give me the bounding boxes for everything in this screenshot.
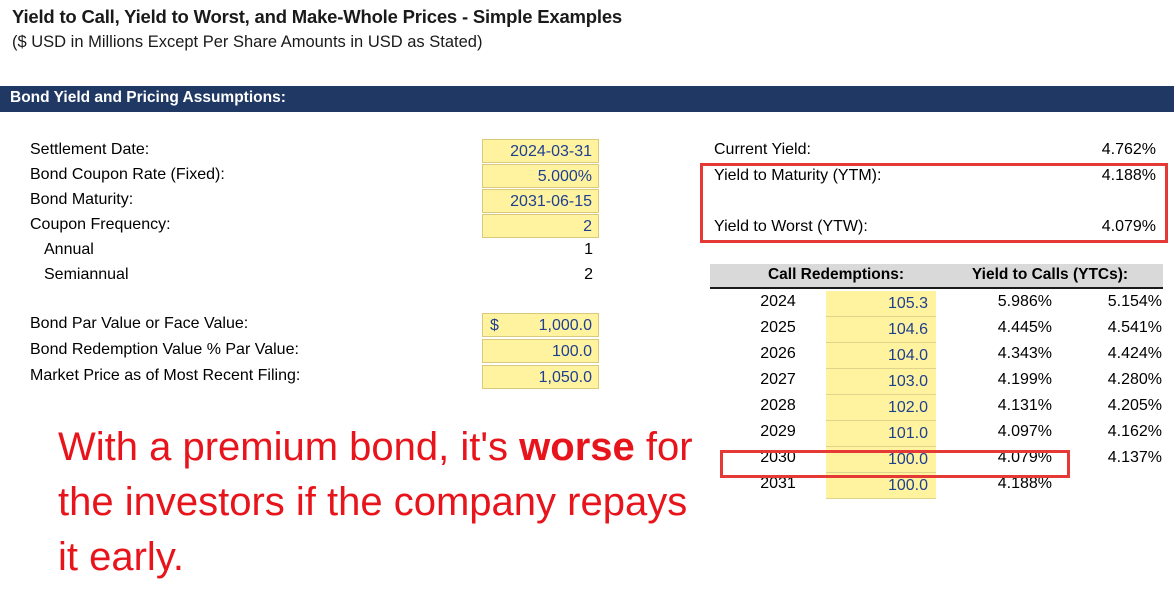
ytc-value-secondary: 4.205% (1058, 397, 1162, 415)
assumption-label: Bond Par Value or Face Value: (30, 315, 248, 333)
assumption-input-cell[interactable]: 5.000% (482, 164, 599, 188)
ytc-value-primary: 5.986% (942, 293, 1052, 311)
yield-value: 4.188% (1040, 167, 1162, 185)
currency-symbol: $ (490, 314, 499, 337)
assumption-label: Semiannual (44, 266, 129, 284)
assumption-input-cell[interactable]: 100.0 (482, 339, 599, 363)
call-year: 2025 (732, 319, 824, 337)
call-price-input-cell[interactable]: 100.0 (826, 447, 936, 473)
ytc-value-primary: 4.199% (942, 371, 1052, 389)
ytc-value-primary: 4.079% (942, 449, 1052, 467)
yield-value: 4.079% (1040, 218, 1162, 236)
yield-label: Yield to Worst (YTW): (714, 218, 868, 236)
table-row: 2030100.04.079%4.137% (710, 447, 1163, 473)
ytc-value-secondary: 5.154% (1058, 293, 1162, 311)
ytc-value-secondary: 4.424% (1058, 345, 1162, 363)
call-table-header: Call Redemptions: Yield to Calls (YTCs): (710, 264, 1163, 289)
call-year: 2024 (732, 293, 824, 311)
assumption-label: Settlement Date: (30, 141, 149, 159)
call-table-body: 2024105.35.986%5.154%2025104.64.445%4.54… (710, 291, 1163, 499)
page-title: Yield to Call, Yield to Worst, and Make-… (12, 6, 622, 28)
assumption-label: Bond Coupon Rate (Fixed): (30, 166, 225, 184)
call-redemptions-header-label: Call Redemptions: (738, 266, 934, 284)
assumption-value: 2 (482, 266, 599, 284)
call-year: 2029 (732, 423, 824, 441)
call-price-input-cell[interactable]: 105.3 (826, 291, 936, 317)
table-row: 2026104.04.343%4.424% (710, 343, 1163, 369)
yield-to-calls-header-label: Yield to Calls (YTCs): (940, 266, 1160, 284)
call-year: 2027 (732, 371, 824, 389)
call-price-input-cell[interactable]: 102.0 (826, 395, 936, 421)
call-price-input-cell[interactable]: 104.0 (826, 343, 936, 369)
call-price-input-cell[interactable]: 101.0 (826, 421, 936, 447)
table-row: 2031100.04.188% (710, 473, 1163, 499)
assumption-label: Bond Redemption Value % Par Value: (30, 341, 299, 359)
annotation-emphasis: worse (519, 425, 635, 469)
ytc-value-primary: 4.131% (942, 397, 1052, 415)
ytc-value-secondary: 4.541% (1058, 319, 1162, 337)
annotation-part-1: With a premium bond, it's (58, 425, 519, 469)
page-subtitle: ($ USD in Millions Except Per Share Amou… (12, 33, 482, 52)
yield-label: Current Yield: (714, 141, 811, 159)
section-header-band: Bond Yield and Pricing Assumptions: (0, 86, 1174, 112)
ytc-value-secondary: 4.280% (1058, 371, 1162, 389)
call-year: 2028 (732, 397, 824, 415)
ytc-value-primary: 4.097% (942, 423, 1052, 441)
assumption-label: Annual (44, 241, 94, 259)
ytc-value-primary: 4.445% (942, 319, 1052, 337)
assumption-input-cell[interactable]: 2024-03-31 (482, 139, 599, 163)
assumption-input-cell[interactable]: 2 (482, 214, 599, 238)
call-price-input-cell[interactable]: 100.0 (826, 473, 936, 499)
section-header-label: Bond Yield and Pricing Assumptions: (10, 89, 286, 107)
assumption-input-cell[interactable]: 2031-06-15 (482, 189, 599, 213)
assumption-label: Bond Maturity: (30, 191, 133, 209)
yield-value: 4.762% (1040, 141, 1162, 159)
yield-label: Yield to Maturity (YTM): (714, 167, 881, 185)
assumption-input-cell[interactable]: $1,000.0 (482, 313, 599, 337)
call-price-input-cell[interactable]: 104.6 (826, 317, 936, 343)
table-row: 2027103.04.199%4.280% (710, 369, 1163, 395)
table-row: 2029101.04.097%4.162% (710, 421, 1163, 447)
annotation-callout: With a premium bond, it's worse for the … (58, 420, 698, 585)
table-row: 2025104.64.445%4.541% (710, 317, 1163, 343)
ytc-value-secondary: 4.137% (1058, 449, 1162, 467)
assumption-label: Coupon Frequency: (30, 216, 171, 234)
call-year: 2030 (732, 449, 824, 467)
table-row: 2028102.04.131%4.205% (710, 395, 1163, 421)
call-year: 2031 (732, 475, 824, 493)
ytc-value-secondary: 4.162% (1058, 423, 1162, 441)
assumption-label: Market Price as of Most Recent Filing: (30, 367, 300, 385)
call-year: 2026 (732, 345, 824, 363)
ytc-value-primary: 4.343% (942, 345, 1052, 363)
call-price-input-cell[interactable]: 103.0 (826, 369, 936, 395)
assumption-input-cell[interactable]: 1,050.0 (482, 365, 599, 389)
assumption-value: 1 (482, 241, 599, 259)
ytc-value-primary: 4.188% (942, 475, 1052, 493)
table-row: 2024105.35.986%5.154% (710, 291, 1163, 317)
